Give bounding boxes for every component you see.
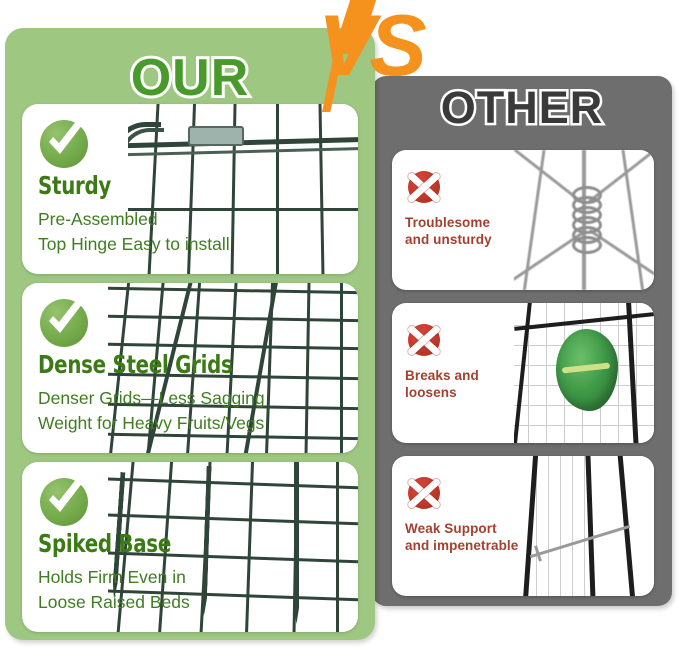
- our-card-list: Sturdy Pre-Assembled Top Hinge Easy to i…: [22, 104, 358, 632]
- our-panel: OUR: [5, 28, 375, 640]
- other-card-line-1: Troublesome: [405, 214, 525, 231]
- our-panel-title: OUR: [5, 50, 375, 106]
- our-card-spiked-base: Spiked Base Holds Firm Even in Loose Rai…: [22, 462, 358, 632]
- other-card-line-2: loosens: [405, 384, 525, 401]
- other-card-weak-support: Weak Support and impenetrable: [392, 456, 654, 596]
- our-card-heading: Dense Steel Grids: [38, 351, 302, 379]
- our-card-dense-steel-grids: Dense Steel Grids Denser Grids—Less Sagg…: [22, 283, 358, 453]
- our-card-line-1: Holds Firm Even in: [38, 565, 338, 590]
- our-card-text: Sturdy Pre-Assembled Top Hinge Easy to i…: [38, 118, 338, 257]
- other-card-line-1: Weak Support: [405, 520, 525, 537]
- other-card-text: Troublesome and unsturdy: [405, 168, 525, 248]
- other-card-line-1: Breaks and: [405, 367, 525, 384]
- our-card-line-1: Pre-Assembled: [38, 207, 338, 232]
- our-card-line-2: Loose Raised Beds: [38, 590, 338, 615]
- our-card-text: Spiked Base Holds Firm Even in Loose Rai…: [38, 476, 338, 615]
- red-x-icon: [405, 168, 443, 206]
- our-card-line-2: Weight for Heavy Fruits/Vegs: [38, 411, 338, 436]
- our-card-text: Dense Steel Grids Denser Grids—Less Sagg…: [38, 297, 338, 436]
- red-x-icon: [405, 474, 443, 512]
- other-card-troublesome: Troublesome and unsturdy: [392, 150, 654, 290]
- green-net-bundle-on-frame-photo: [514, 303, 654, 443]
- green-check-icon: [38, 476, 90, 528]
- other-card-line-2: and unsturdy: [405, 231, 525, 248]
- our-card-heading: Sturdy: [38, 172, 302, 200]
- comparison-infographic: OTHER: [0, 0, 679, 661]
- our-card-heading: Spiked Base: [38, 530, 302, 558]
- other-card-text: Breaks and loosens: [405, 321, 525, 401]
- other-panel-title: OTHER: [372, 82, 672, 134]
- other-card-list: Troublesome and unsturdy: [392, 150, 654, 596]
- green-check-icon: [38, 118, 90, 170]
- other-card-breaks-loosens: Breaks and loosens: [392, 303, 654, 443]
- tangled-wire-knot-photo: [514, 150, 654, 290]
- other-card-line-2: and impenetrable: [405, 537, 525, 554]
- our-card-sturdy: Sturdy Pre-Assembled Top Hinge Easy to i…: [22, 104, 358, 274]
- other-card-text: Weak Support and impenetrable: [405, 474, 525, 554]
- red-x-icon: [405, 321, 443, 359]
- green-check-icon: [38, 297, 90, 349]
- other-panel: OTHER: [372, 76, 672, 606]
- thin-frame-weak-support-photo: [514, 456, 654, 596]
- our-card-line-1: Denser Grids—Less Sagging: [38, 386, 338, 411]
- our-card-line-2: Top Hinge Easy to install: [38, 232, 338, 257]
